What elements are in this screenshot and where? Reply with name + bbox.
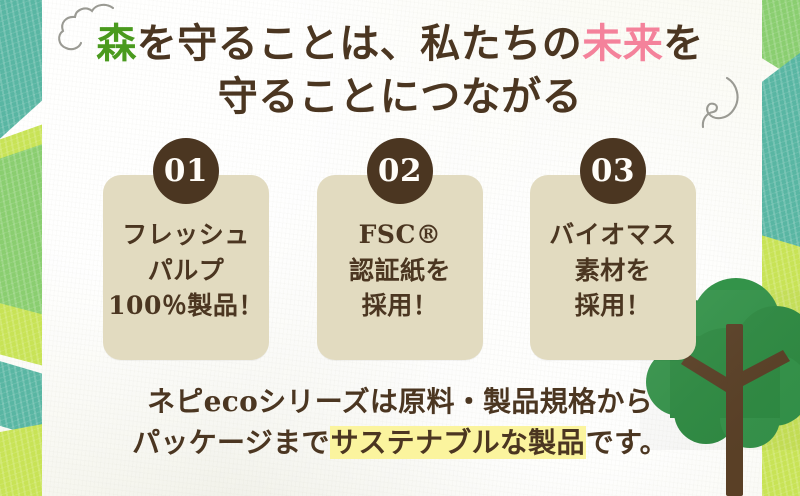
feature-card-02: 02 FSC® 認証紙を 採用！ [317, 175, 483, 360]
card-body-text: FSC® 認証紙を 採用！ [317, 217, 483, 324]
headline-mid-text: を守ることは、私たちの [137, 20, 583, 67]
card-body-text: フレッシュ パルプ 100％製品！ [103, 217, 269, 324]
caption-highlight: サステナブルな製品 [330, 426, 586, 459]
headline-green-word: 森 [96, 20, 137, 67]
caption-line-1: ネピecoシリーズは原料・製品規格から [0, 381, 800, 422]
card-number-badge: 02 [367, 138, 433, 204]
infographic-canvas: 森を守ることは、私たちの未来を 守ることにつながる 01 フレッシュ パルプ 1… [0, 0, 800, 496]
caption-line-2: パッケージまでサステナブルな製品です。 [0, 422, 800, 463]
headline-line-2: 守ることにつながる [0, 71, 800, 124]
feature-card-03: 03 バイオマス 素材を 採用！ [530, 175, 696, 360]
headline-pink-word: 未来 [582, 20, 663, 67]
card-number-badge: 03 [580, 138, 646, 204]
headline-post-text: を [663, 20, 704, 67]
caption-text: ネピecoシリーズは原料・製品規格から パッケージまでサステナブルな製品です。 [0, 381, 800, 464]
page-title: 森を守ることは、私たちの未来を 守ることにつながる [0, 18, 800, 124]
feature-card-01: 01 フレッシュ パルプ 100％製品！ [103, 175, 269, 360]
card-body-text: バイオマス 素材を 採用！ [530, 217, 696, 324]
headline-line-1: 森を守ることは、私たちの未来を [0, 18, 800, 71]
caption-line-2-post: です。 [586, 426, 668, 459]
card-number-badge: 01 [153, 138, 219, 204]
caption-line-2-pre: パッケージまで [132, 426, 330, 459]
